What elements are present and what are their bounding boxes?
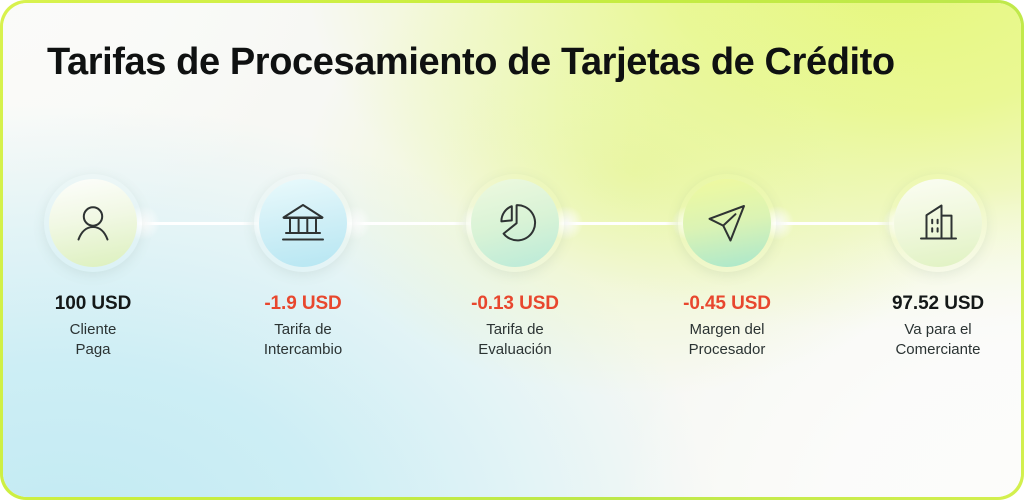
user-icon	[70, 200, 116, 246]
page-title: Tarifas de Procesamiento de Tarjetas de …	[47, 39, 987, 85]
step-amount: 100 USD	[3, 293, 183, 315]
flow-node-1	[49, 179, 137, 267]
step-caption: Tarifa de Evaluación	[425, 320, 605, 360]
infographic-frame: Tarifas de Procesamiento de Tarjetas de …	[0, 0, 1024, 500]
flow-node-4	[683, 179, 771, 267]
pie-chart-icon	[492, 200, 538, 246]
flow-node-3	[471, 179, 559, 267]
step-caption: Va para el Comerciante	[848, 320, 1021, 360]
flow-step-va-comerciante: 97.52 USD Va para el Comerciante	[848, 179, 1021, 360]
infographic-card: Tarifas de Procesamiento de Tarjetas de …	[3, 3, 1021, 497]
step-caption: Cliente Paga	[3, 320, 183, 360]
flow-node-5	[894, 179, 982, 267]
step-caption: Margen del Procesador	[637, 320, 817, 360]
step-amount: -1.9 USD	[213, 293, 393, 315]
step-caption: Tarifa de Intercambio	[213, 320, 393, 360]
bank-icon	[279, 201, 327, 245]
store-building-icon	[915, 201, 961, 245]
fee-flow-diagram: 100 USD Cliente Paga	[3, 179, 1021, 379]
send-plane-icon	[704, 200, 750, 246]
flow-node-2	[259, 179, 347, 267]
step-amount: -0.13 USD	[425, 293, 605, 315]
step-amount: 97.52 USD	[848, 293, 1021, 315]
step-amount: -0.45 USD	[637, 293, 817, 315]
